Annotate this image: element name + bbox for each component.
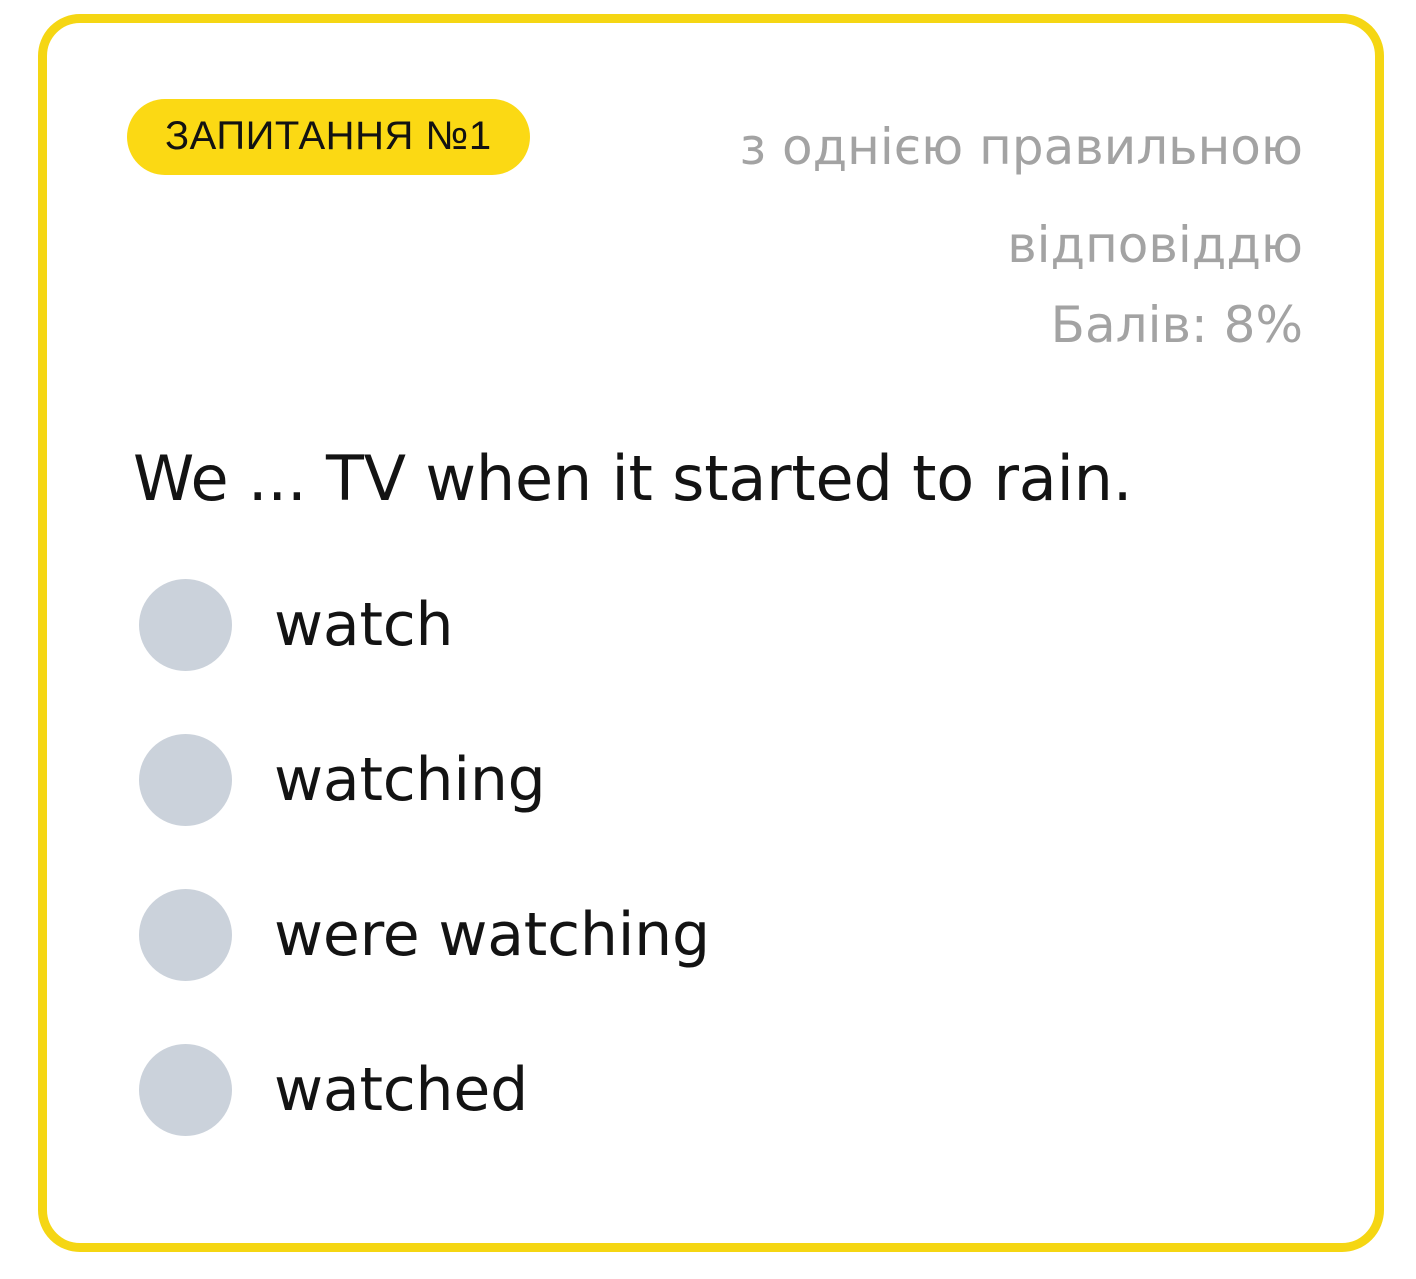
question-number-badge: ЗАПИТАННЯ №1 — [127, 99, 530, 175]
quiz-question-card: ЗАПИТАННЯ №1 з однією правильною відпові… — [38, 14, 1384, 1252]
radio-button-icon[interactable] — [139, 579, 232, 671]
answer-option-label: were watching — [274, 905, 710, 965]
answer-option-2[interactable]: watching — [139, 732, 1375, 828]
answer-options-list: watch watching were watching watched — [47, 511, 1375, 1138]
question-stem: We ... TV when it started to rain. — [47, 350, 1375, 511]
radio-button-icon[interactable] — [139, 734, 232, 826]
radio-button-icon[interactable] — [139, 1044, 232, 1136]
score-label: Балів: 8% — [127, 300, 1303, 350]
radio-button-icon[interactable] — [139, 889, 232, 981]
answer-option-4[interactable]: watched — [139, 1042, 1375, 1138]
question-type-label: з однією правильною відповіддю — [740, 118, 1303, 274]
answer-option-label: watching — [274, 750, 546, 810]
answer-option-3[interactable]: were watching — [139, 887, 1375, 983]
answer-option-label: watched — [274, 1060, 528, 1120]
answer-option-1[interactable]: watch — [139, 577, 1375, 673]
question-header: ЗАПИТАННЯ №1 з однією правильною відпові… — [47, 23, 1375, 350]
answer-option-label: watch — [274, 595, 453, 655]
